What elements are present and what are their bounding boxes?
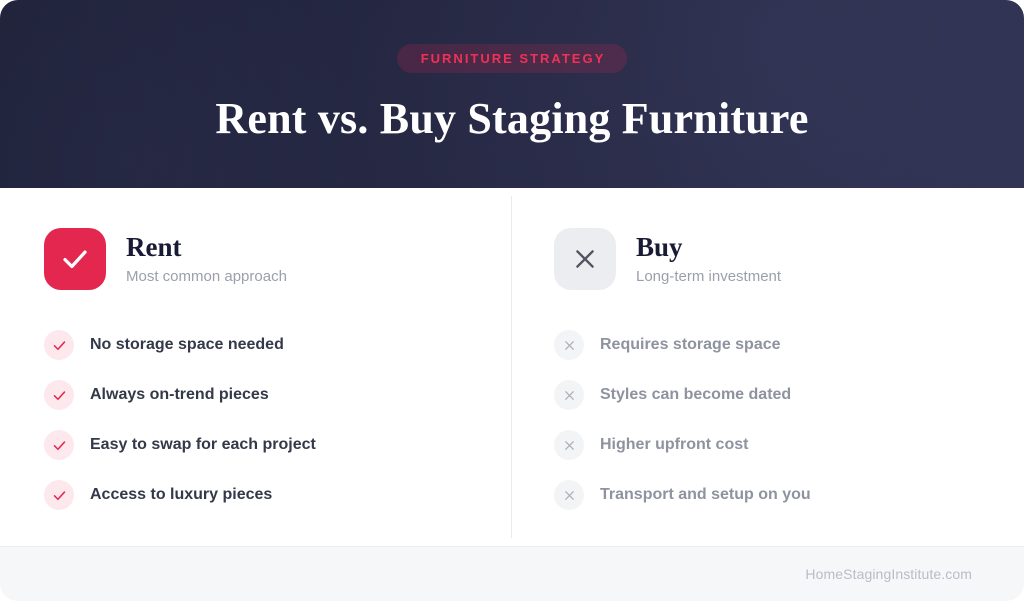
list-item: Higher upfront cost (554, 420, 980, 470)
list-item: Easy to swap for each project (44, 420, 468, 470)
rent-benefit-list: No storage space needed Always on-trend … (44, 320, 468, 520)
column-buy-subtitle: Long-term investment (636, 268, 781, 286)
list-item-label: Higher upfront cost (600, 435, 748, 456)
column-buy-header: Buy Long-term investment (554, 228, 980, 290)
column-buy: Buy Long-term investment Requires storag… (512, 188, 1024, 546)
category-badge: FURNITURE STRATEGY (397, 44, 628, 73)
page-title: Rent vs. Buy Staging Furniture (215, 95, 808, 143)
list-item: Always on-trend pieces (44, 370, 468, 420)
attribution-text: HomeStagingInstitute.com (805, 566, 972, 582)
list-item: No storage space needed (44, 320, 468, 370)
list-item-label: No storage space needed (90, 335, 284, 356)
list-item-label: Access to luxury pieces (90, 485, 272, 506)
list-item-label: Styles can become dated (600, 385, 791, 406)
card-footer: HomeStagingInstitute.com (0, 546, 1024, 601)
column-rent-title: Rent (126, 232, 287, 263)
list-item-label: Requires storage space (600, 335, 781, 356)
list-item: Styles can become dated (554, 370, 980, 420)
card-header: FURNITURE STRATEGY Rent vs. Buy Staging … (0, 0, 1024, 188)
column-divider (511, 196, 512, 538)
close-icon (554, 430, 584, 460)
comparison-body: Rent Most common approach No storage spa… (0, 188, 1024, 546)
column-rent-header: Rent Most common approach (44, 228, 468, 290)
list-item: Transport and setup on you (554, 470, 980, 520)
list-item-label: Easy to swap for each project (90, 435, 316, 456)
column-rent: Rent Most common approach No storage spa… (0, 188, 512, 546)
check-icon (44, 330, 74, 360)
buy-drawback-list: Requires storage space Styles can become… (554, 320, 980, 520)
column-rent-subtitle: Most common approach (126, 268, 287, 286)
check-icon (44, 430, 74, 460)
close-icon (554, 380, 584, 410)
list-item: Requires storage space (554, 320, 980, 370)
close-icon (554, 480, 584, 510)
list-item-label: Always on-trend pieces (90, 385, 269, 406)
list-item-label: Transport and setup on you (600, 485, 811, 506)
column-buy-title: Buy (636, 232, 781, 263)
list-item: Access to luxury pieces (44, 470, 468, 520)
check-icon (44, 228, 106, 290)
check-icon (44, 380, 74, 410)
check-icon (44, 480, 74, 510)
close-icon (554, 228, 616, 290)
infographic-card: FURNITURE STRATEGY Rent vs. Buy Staging … (0, 0, 1024, 601)
close-icon (554, 330, 584, 360)
